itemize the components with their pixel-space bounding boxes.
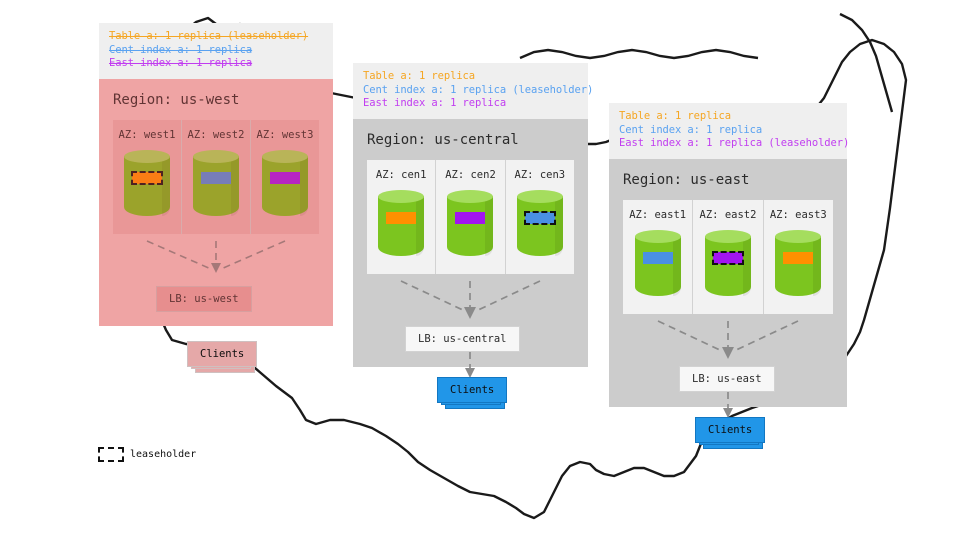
node-cylinder-cen3[interactable] xyxy=(517,190,563,258)
cylinder-shade xyxy=(162,156,170,216)
az-label: AZ: cen2 xyxy=(436,169,504,181)
legend-line-cent-index: Cent index a: 1 replica xyxy=(619,124,837,138)
legend-line-cent-index: Cent index a: 1 replica xyxy=(109,44,323,58)
region-body-us-central: Region: us-central AZ: cen1 AZ: cen2 xyxy=(353,119,588,367)
replica-legend-us-east: Table a: 1 replica Cent index a: 1 repli… xyxy=(609,103,847,159)
az-west1[interactable]: AZ: west1 xyxy=(113,120,181,234)
az-east1[interactable]: AZ: east1 xyxy=(623,200,692,314)
az-label: AZ: cen1 xyxy=(367,169,435,181)
az-cen1[interactable]: AZ: cen1 xyxy=(367,160,435,274)
node-cylinder-east2[interactable] xyxy=(705,230,751,298)
az-label: AZ: east3 xyxy=(764,209,833,221)
legend-line-table: Table a: 1 replica xyxy=(363,70,578,84)
cylinder-top xyxy=(705,230,751,243)
replica-block-cent-index[interactable] xyxy=(201,172,231,184)
clients-group-us-central[interactable]: Clients xyxy=(437,377,507,403)
az-row-us-east: AZ: east1 AZ: east2 xyxy=(623,200,833,314)
az-label: AZ: west1 xyxy=(113,129,181,141)
cylinder-shade xyxy=(813,236,821,296)
az-east3[interactable]: AZ: east3 xyxy=(763,200,833,314)
cylinder-shade xyxy=(416,196,424,256)
load-balancer-us-west[interactable]: LB: us-west xyxy=(156,286,252,312)
figure-legend-label: leaseholder xyxy=(130,449,196,460)
cylinder-top xyxy=(635,230,681,243)
az-label: AZ: cen3 xyxy=(506,169,574,181)
cylinder-shade xyxy=(300,156,308,216)
node-cylinder-cen2[interactable] xyxy=(447,190,493,258)
node-cylinder-east3[interactable] xyxy=(775,230,821,298)
node-cylinder-west1[interactable] xyxy=(124,150,170,218)
dashed-rectangle-icon xyxy=(98,447,124,462)
diagram-canvas: Table a: 1 replica (leaseholder) Cent in… xyxy=(0,0,960,540)
legend-line-east-index: East index a: 1 replica (leaseholder) xyxy=(619,137,837,151)
replica-legend-us-west: Table a: 1 replica (leaseholder) Cent in… xyxy=(99,23,333,79)
clients-box-us-central[interactable]: Clients xyxy=(437,377,507,403)
region-title-us-west: Region: us-west xyxy=(99,79,333,120)
cylinder-top xyxy=(378,190,424,203)
az-label: AZ: east1 xyxy=(623,209,692,221)
region-panel-us-central: Table a: 1 replica Cent index a: 1 repli… xyxy=(353,63,588,367)
cylinder-top xyxy=(447,190,493,203)
region-body-us-east: Region: us-east AZ: east1 AZ: east2 xyxy=(609,159,847,407)
region-panel-us-west: Table a: 1 replica (leaseholder) Cent in… xyxy=(99,23,333,326)
replica-block-east-index[interactable] xyxy=(270,172,300,184)
clients-box-us-west[interactable]: Clients xyxy=(187,341,257,367)
az-cen3[interactable]: AZ: cen3 xyxy=(505,160,574,274)
replica-block-table[interactable] xyxy=(783,252,813,264)
replica-block-cent-index[interactable] xyxy=(525,212,555,224)
legend-line-table: Table a: 1 replica (leaseholder) xyxy=(109,30,323,44)
az-label: AZ: west2 xyxy=(182,129,250,141)
az-label: AZ: west3 xyxy=(251,129,319,141)
region-title-us-central: Region: us-central xyxy=(353,119,588,160)
cylinder-top xyxy=(775,230,821,243)
cylinder-top xyxy=(517,190,563,203)
az-row-us-west: AZ: west1 AZ: west2 xyxy=(113,120,319,234)
node-cylinder-west3[interactable] xyxy=(262,150,308,218)
node-cylinder-cen1[interactable] xyxy=(378,190,424,258)
az-west2[interactable]: AZ: west2 xyxy=(181,120,250,234)
load-balancer-us-east[interactable]: LB: us-east xyxy=(679,366,775,392)
az-cen2[interactable]: AZ: cen2 xyxy=(435,160,504,274)
cylinder-shade xyxy=(485,196,493,256)
az-label: AZ: east2 xyxy=(693,209,762,221)
replica-block-cent-index[interactable] xyxy=(643,252,673,264)
clients-box-us-east[interactable]: Clients xyxy=(695,417,765,443)
cylinder-top xyxy=(193,150,239,163)
cylinder-shade xyxy=(555,196,563,256)
az-west3[interactable]: AZ: west3 xyxy=(250,120,319,234)
az-east2[interactable]: AZ: east2 xyxy=(692,200,762,314)
replica-legend-us-central: Table a: 1 replica Cent index a: 1 repli… xyxy=(353,63,588,119)
figure-legend: leaseholder xyxy=(98,447,196,462)
replica-block-table[interactable] xyxy=(386,212,416,224)
region-panel-us-east: Table a: 1 replica Cent index a: 1 repli… xyxy=(609,103,847,407)
legend-line-east-index: East index a: 1 replica xyxy=(109,57,323,71)
replica-block-table[interactable] xyxy=(132,172,162,184)
clients-group-us-west[interactable]: Clients xyxy=(187,341,257,367)
region-body-us-west: Region: us-west AZ: west1 AZ: west2 xyxy=(99,79,333,326)
az-row-us-central: AZ: cen1 AZ: cen2 xyxy=(367,160,574,274)
cylinder-top xyxy=(124,150,170,163)
legend-line-table: Table a: 1 replica xyxy=(619,110,837,124)
replication-arrows-us-east xyxy=(609,309,847,369)
load-balancer-us-central[interactable]: LB: us-central xyxy=(405,326,520,352)
replication-arrows-us-west xyxy=(99,229,333,289)
cylinder-top xyxy=(262,150,308,163)
replication-arrows-us-central xyxy=(353,269,588,329)
cylinder-shade xyxy=(673,236,681,296)
region-title-us-east: Region: us-east xyxy=(609,159,847,200)
replica-block-east-index[interactable] xyxy=(455,212,485,224)
node-cylinder-east1[interactable] xyxy=(635,230,681,298)
cylinder-shade xyxy=(743,236,751,296)
legend-line-east-index: East index a: 1 replica xyxy=(363,97,578,111)
node-cylinder-west2[interactable] xyxy=(193,150,239,218)
legend-line-cent-index: Cent index a: 1 replica (leaseholder) xyxy=(363,84,578,98)
cylinder-shade xyxy=(231,156,239,216)
clients-group-us-east[interactable]: Clients xyxy=(695,417,765,443)
replica-block-east-index[interactable] xyxy=(713,252,743,264)
